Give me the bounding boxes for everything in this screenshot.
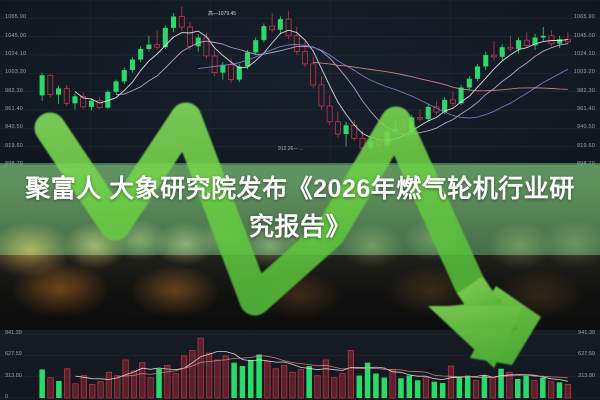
page-title: 聚富人 大象研究院发布《2026年燃气轮机行业研 究报告》 <box>8 170 592 246</box>
page-title-line2: 究报告》 <box>8 208 592 246</box>
page-title-line1: 聚富人 大象研究院发布《2026年燃气轮机行业研 <box>8 170 592 208</box>
stock-chart-banner: 1086.801065.901045.001024.101003.20982.3… <box>0 0 600 400</box>
